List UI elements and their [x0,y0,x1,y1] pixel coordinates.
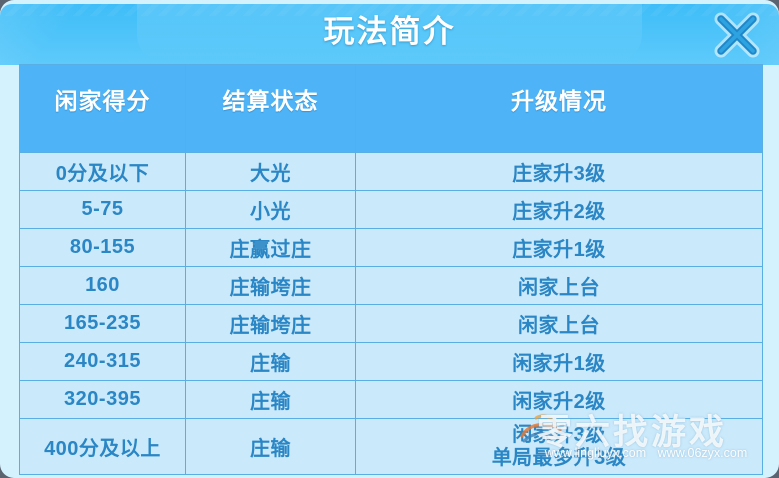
table-header-row: 闲家得分 结算状态 升级情况 [20,65,763,153]
cell-status: 庄输垮庄 [186,267,356,305]
cell-status: 大光 [186,153,356,191]
cell-status: 庄输垮庄 [186,305,356,343]
table-row: 160 庄输垮庄 闲家上台 [20,267,763,305]
dialog-titlebar: 玩法简介 [0,4,779,65]
table-row: 80-155 庄赢过庄 庄家升1级 [20,229,763,267]
cell-upgrade: 闲家升3级 单局最多升3级 [356,419,763,475]
cell-upgrade: 庄家升1级 [356,229,763,267]
cell-score: 5-75 [20,191,186,229]
cell-score: 400分及以上 [20,419,186,475]
cell-status: 庄输 [186,381,356,419]
cell-upgrade: 闲家上台 [356,267,763,305]
cell-status: 小光 [186,191,356,229]
cell-upgrade: 闲家升1级 [356,343,763,381]
column-header-upgrade: 升级情况 [356,65,763,153]
cell-status: 庄赢过庄 [186,229,356,267]
cell-score: 80-155 [20,229,186,267]
cell-score: 0分及以下 [20,153,186,191]
close-button[interactable] [709,9,765,61]
table-row: 400分及以上 庄输 闲家升3级 单局最多升3级 [20,419,763,475]
cell-score: 165-235 [20,305,186,343]
cell-score: 240-315 [20,343,186,381]
table-body: 0分及以下 大光 庄家升3级 5-75 小光 庄家升2级 80-155 庄赢过庄… [20,153,763,475]
table-row: 5-75 小光 庄家升2级 [20,191,763,229]
column-header-status: 结算状态 [186,65,356,153]
cell-upgrade-line2: 单局最多升3级 [356,447,762,470]
cell-status: 庄输 [186,419,356,475]
cell-upgrade: 闲家升2级 [356,381,763,419]
cell-status: 庄输 [186,343,356,381]
game-rules-dialog: 玩法简介 闲家得分 结算状态 升级情况 0分及以下 [0,0,779,478]
titlebar-sheen-left [0,4,105,65]
cell-upgrade: 庄家升3级 [356,153,763,191]
close-x-icon [709,9,765,61]
cell-score: 160 [20,267,186,305]
dialog-title: 玩法简介 [137,10,642,54]
table-row: 240-315 庄输 闲家升1级 [20,343,763,381]
table-row: 320-395 庄输 闲家升2级 [20,381,763,419]
cell-upgrade: 庄家升2级 [356,191,763,229]
cell-score: 320-395 [20,381,186,419]
table-row: 165-235 庄输垮庄 闲家上台 [20,305,763,343]
table-row: 0分及以下 大光 庄家升3级 [20,153,763,191]
rules-table: 闲家得分 结算状态 升级情况 0分及以下 大光 庄家升3级 5-75 小光 庄家… [19,64,763,475]
cell-upgrade-line1: 闲家升3级 [356,424,762,447]
cell-upgrade: 闲家上台 [356,305,763,343]
column-header-score: 闲家得分 [20,65,186,153]
